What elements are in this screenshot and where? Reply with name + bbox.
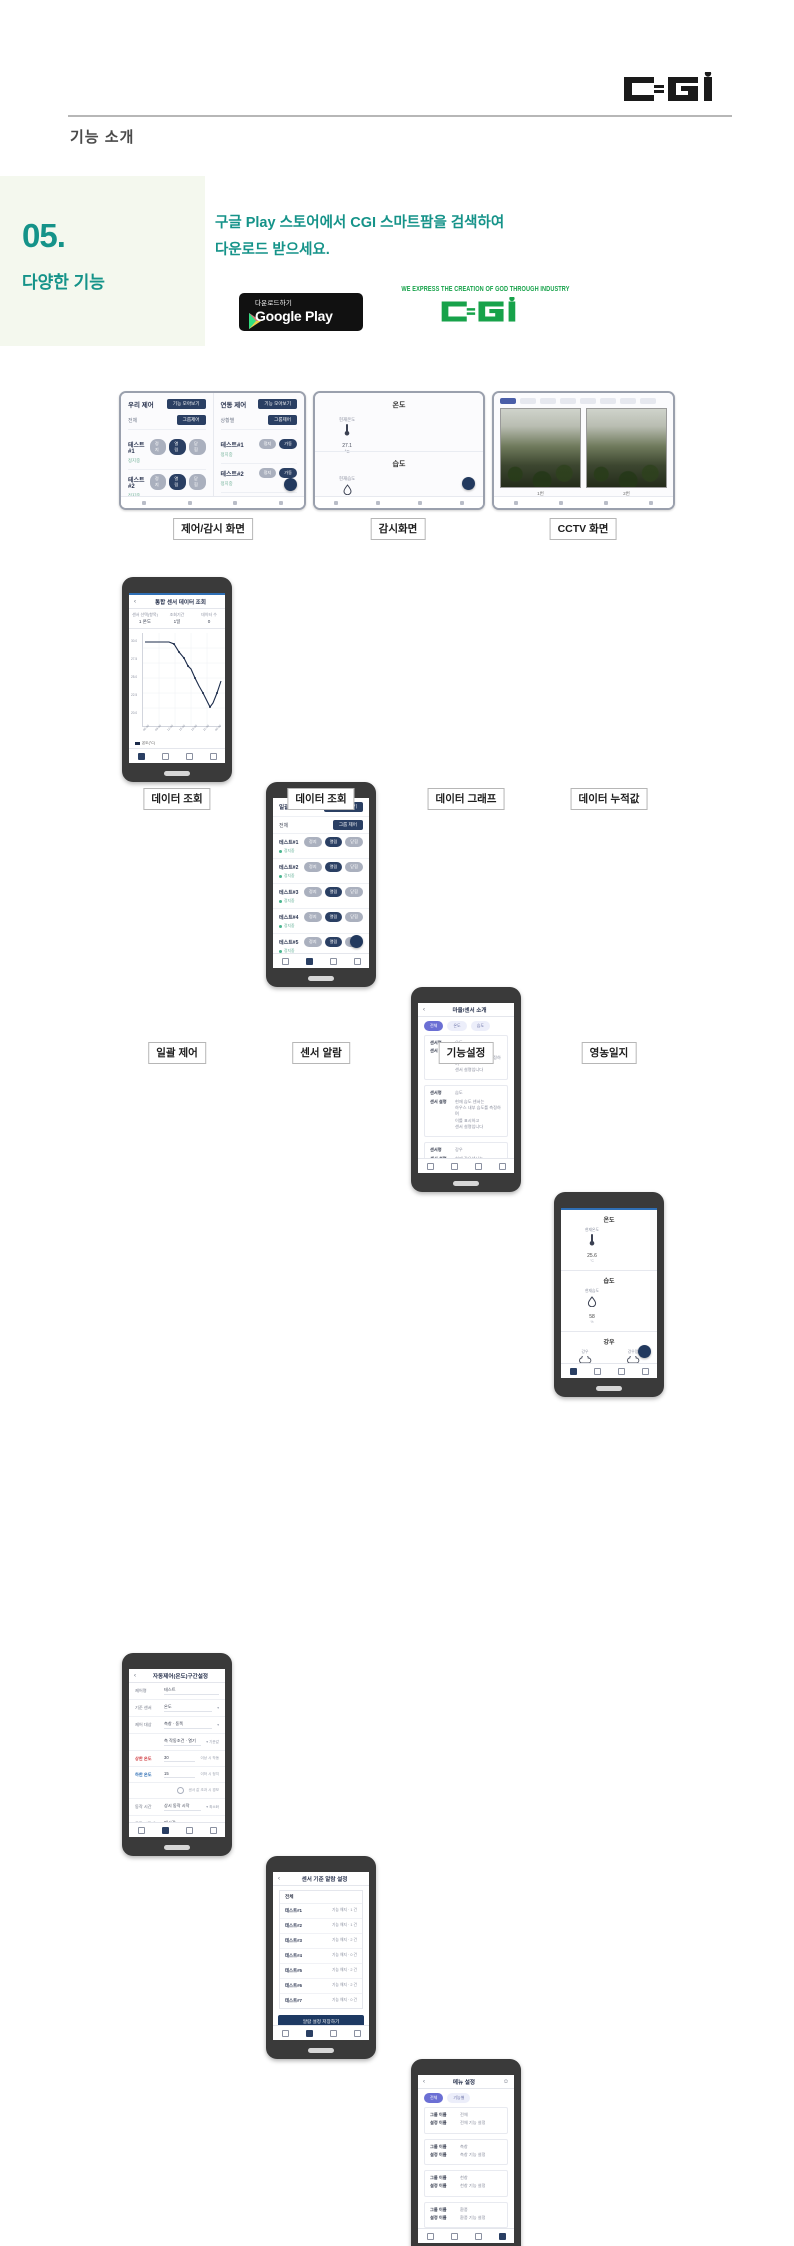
card-key: 센서 설명	[430, 1099, 451, 1130]
device-state-text: 정지중	[284, 849, 294, 854]
device-stop-button[interactable]: 정지	[150, 439, 167, 455]
alarm-row[interactable]: 테스트#6 기능 해지 · 2 건	[280, 1979, 362, 1994]
y-tick: 30.0	[131, 639, 137, 643]
card-key: 그룹 이름	[430, 2144, 456, 2150]
group-control-button[interactable]: 그룹 제어	[333, 820, 363, 830]
card-value: 천창 기능 설정	[460, 2183, 485, 2189]
device-state: 정지중	[279, 874, 363, 879]
nav-data-icon[interactable]	[330, 958, 337, 965]
lead-line-1: 구글 Play 스토어에서 CGI 스마트팜을 검색하여	[215, 210, 645, 237]
summary-key: 데이터 수	[193, 612, 225, 618]
caption-monitor: 감시화면	[371, 518, 426, 540]
x-axis-labels: 06:00 09:00 12:00 15:00 18:00 21:00 00:0…	[142, 729, 225, 733]
back-icon[interactable]: ‹	[134, 1673, 136, 1679]
cctv-tab-5[interactable]	[580, 398, 596, 404]
device-open-button[interactable]: 열림	[169, 439, 186, 455]
accum-humi-item: 현재습도 58 %	[575, 1289, 609, 1324]
form-label: 하한 온도	[135, 1772, 159, 1778]
bottom-nav[interactable]	[273, 953, 369, 968]
card-key: 그룹 이름	[430, 2207, 456, 2213]
bottom-nav[interactable]	[418, 2228, 514, 2243]
caption-batch-control: 일괄 제어	[148, 1042, 206, 1064]
cctv-video-2[interactable]	[586, 408, 667, 488]
alarm-value: 기능 해지 · 1 건	[332, 1908, 357, 1914]
device-state: 정지중	[279, 899, 363, 904]
control-right-button[interactable]: 기능 모아보기	[258, 399, 297, 409]
nav-home-icon[interactable]	[427, 1163, 434, 1170]
bottom-nav[interactable]	[129, 1822, 225, 1837]
device-state: 정지중	[279, 924, 363, 929]
alarm-value: 기능 해지 · 1 건	[332, 1923, 357, 1929]
form-unit: 이상 시 작동	[200, 1756, 219, 1761]
caption-data-query-chart: 데이터 조회	[143, 788, 210, 810]
tab-icon[interactable]	[142, 501, 146, 505]
nav-control-icon[interactable]	[594, 1368, 601, 1375]
summary-value: 1일	[161, 619, 193, 625]
nav-settings-icon[interactable]	[210, 753, 217, 760]
accum-humidity-section: 습도 현재습도 58 %	[561, 1271, 657, 1332]
bottom-nav[interactable]	[273, 2025, 369, 2040]
chip-all[interactable]: 전체	[424, 2093, 443, 2103]
filter-chips[interactable]: 전체 기능별	[418, 2089, 514, 2107]
tab-icon[interactable]	[604, 501, 608, 505]
summary-key: 조회기간	[161, 612, 193, 618]
device-name: 테스트#3	[279, 889, 298, 896]
control-right-group-button[interactable]: 그룹제어	[268, 415, 297, 425]
summary-key: 센서 선택(항목)	[129, 612, 161, 618]
form-value[interactable]: 테스트	[164, 1687, 219, 1695]
app-title: 메뉴 설정	[430, 2078, 498, 2086]
tab-icon[interactable]	[376, 501, 380, 505]
app-title: 자동제어(온도)구간설정	[141, 1672, 220, 1680]
nav-data-icon[interactable]	[186, 753, 193, 760]
form-label: 동작 시간	[135, 1804, 159, 1810]
card-key: 설정 이름	[430, 2152, 456, 2158]
form-label: 제어명	[135, 1688, 159, 1694]
checkbox-icon[interactable]	[177, 1787, 184, 1794]
device-run-button[interactable]: 가동	[279, 468, 297, 478]
device-close-button[interactable]: 닫힘	[345, 887, 363, 897]
tab-icon[interactable]	[514, 501, 518, 505]
device-name: 테스트#1	[221, 440, 244, 449]
app-bar: ‹ 메뉴 설정 ☺	[418, 2075, 514, 2089]
device-state: 정지중	[221, 452, 298, 458]
y-tick: 20.0	[131, 711, 137, 715]
person-icon[interactable]: ☺	[503, 2079, 509, 2085]
device-name: 테스트#2	[128, 475, 150, 490]
app-title: 통합 센서 데이터 조회	[141, 598, 220, 606]
device-open-button[interactable]: 열림	[325, 887, 343, 897]
form-label: 기준 센서	[135, 1705, 159, 1711]
bottom-nav[interactable]	[561, 1363, 657, 1378]
cctv-tab-4[interactable]	[560, 398, 576, 404]
nav-control-icon[interactable]	[451, 1163, 458, 1170]
device-open-button[interactable]: 열림	[325, 912, 343, 922]
accum-humi-unit: %	[575, 1320, 609, 1324]
card-value: 천창	[460, 2175, 468, 2181]
device-row[interactable]: 테스트#1 정지 열림 닫힘 정지중	[273, 834, 369, 859]
back-icon[interactable]: ‹	[423, 1007, 425, 1013]
device-close-button[interactable]: 닫힘	[189, 474, 206, 490]
nav-home-icon[interactable]	[138, 753, 145, 760]
form-label: 제어 대상	[135, 1722, 159, 1728]
tab-icon[interactable]	[279, 501, 283, 505]
alarm-value: 기능 해지 · 0 건	[332, 1998, 357, 2004]
back-icon[interactable]: ‹	[423, 2079, 425, 2085]
chevron-down-icon[interactable]: ▾	[217, 1706, 219, 1710]
control-right-group-label: 상황별	[221, 417, 235, 424]
card-key: 센서명	[430, 1090, 451, 1096]
nav-data-icon[interactable]	[475, 2233, 482, 2240]
google-play-badge[interactable]: 다운로드하기 Google Play	[239, 293, 363, 331]
alarm-name: 테스트#5	[285, 1968, 302, 1974]
screenshot-batch-control[interactable]: ‹ 자동제어(온도)구간설정 제어명 테스트 기준 센서 온도 ▾ 제어 대상 …	[122, 1653, 232, 1856]
form-row-checkbox[interactable]: 센서 값 초과 시 경보	[129, 1783, 225, 1799]
device-stop-button[interactable]: 정지	[150, 474, 167, 490]
legend-swatch	[135, 742, 140, 745]
chart-svg	[143, 633, 225, 726]
nav-control-icon[interactable]	[162, 1827, 169, 1834]
app-bar: ‹ 자동제어(온도)구간설정	[129, 1669, 225, 1683]
device-close-button[interactable]: 닫힘	[345, 912, 363, 922]
nav-data-icon[interactable]	[475, 1163, 482, 1170]
card-key: 센서명	[430, 1147, 451, 1153]
form-value[interactable]: 15	[164, 1771, 195, 1778]
nav-settings-icon[interactable]	[210, 1827, 217, 1834]
device-close-button[interactable]: 닫힘	[189, 439, 206, 455]
cctv-cell-2[interactable]: 2번	[586, 408, 667, 497]
tab-icon[interactable]	[233, 501, 237, 505]
form-row-lower-limit[interactable]: 하한 온도 15 이하 시 정지	[129, 1767, 225, 1783]
card-value: 환풍 기능 설정	[460, 2215, 485, 2221]
screenshot-data-query-list[interactable]: 일괄 제어 기능 모아보기 전체 그룹 제어 테스트#1 정지 열림 닫힘	[266, 782, 376, 987]
caption-data-accumulated: 데이터 누적값	[571, 788, 648, 810]
chevron-down-icon[interactable]: ▾	[217, 1723, 219, 1727]
floating-action-button[interactable]	[284, 478, 297, 491]
accum-temperature-section: 온도 현재온도 25.6 °C	[561, 1210, 657, 1271]
chip-humidity[interactable]: 습도	[471, 1021, 490, 1031]
device-name: 테스트#2	[221, 469, 244, 478]
section-band	[0, 176, 205, 346]
form-row[interactable]: 동작 시간 상시 동작 시작 ▾ 최소화	[129, 1799, 225, 1816]
form-row[interactable]: 제어명 테스트	[129, 1683, 225, 1700]
device-stop-button[interactable]: 정지	[304, 937, 322, 947]
thermometer-icon	[588, 1233, 596, 1250]
status-dot-icon	[279, 850, 282, 853]
card-key: 설정 이름	[430, 2183, 456, 2189]
card-value: 강우	[455, 1147, 463, 1153]
device-stop-button[interactable]: 정지	[304, 912, 322, 922]
cctv-video-1[interactable]	[500, 408, 581, 488]
nav-home-icon[interactable]	[282, 958, 289, 965]
device-open-button[interactable]: 열림	[325, 937, 343, 947]
header-divider	[68, 115, 732, 117]
tab-icon[interactable]	[649, 501, 653, 505]
device-name: 테스트#5	[279, 939, 298, 946]
screenshot-monitor[interactable]: 온도 현재온도 27.1 °C 습도 현재습도	[313, 391, 485, 510]
thermometer-icon	[343, 423, 351, 440]
cgi-tagline: WE EXPRESS THE CREATION OF GOD THROUGH I…	[398, 286, 573, 294]
caption-control-monitor: 제어/감시 화면	[173, 518, 253, 540]
device-name: 테스트#4	[279, 914, 298, 921]
alarm-name: 테스트#4	[285, 1953, 302, 1959]
tab-icon[interactable]	[334, 501, 338, 505]
form-row[interactable]: 제어 대상 측창 · 동쪽 ▾	[129, 1717, 225, 1734]
nav-settings-icon[interactable]	[499, 1163, 506, 1170]
app-title: 센서 기준 알람 설정	[285, 1875, 364, 1883]
form-unit: 이하 시 정지	[200, 1772, 219, 1777]
cgi-wordmark-icon	[398, 297, 573, 326]
control-left-title: 우리 제어	[128, 399, 154, 409]
page-root: 기능 소개 05. 다양한 기능 구글 Play 스토어에서 CGI 스마트팜을…	[0, 0, 794, 1123]
tab-icon[interactable]	[460, 501, 464, 505]
legend-label: 온도(°C)	[142, 741, 155, 746]
nav-home-icon[interactable]	[427, 2233, 434, 2240]
y-tick: 25.0	[131, 675, 137, 679]
setting-card[interactable]: 그룹 이름 측창 설정 이름 측창 기능 설정	[424, 2139, 508, 2166]
bottom-nav[interactable]	[129, 748, 225, 763]
chip-temperature[interactable]: 온도	[447, 1021, 466, 1031]
line-chart: 30.0 27.5 25.0 22.5 20.0	[142, 633, 221, 727]
section-label: 다양한 기능	[22, 268, 105, 293]
nav-data-icon[interactable]	[618, 1368, 625, 1375]
chart-legend: 온도(°C)	[135, 741, 225, 746]
sensor-card[interactable]: 센서명 습도 센서 설명 현재 습도 센서는 하우스 내부 습도를 측정하며 이…	[424, 1085, 508, 1137]
accum-humi-title: 습도	[561, 1276, 657, 1285]
bottom-nav[interactable]	[418, 1158, 514, 1173]
device-open-button[interactable]: 열림	[325, 862, 343, 872]
cctv-tab-8[interactable]	[640, 398, 656, 404]
monitor-humi-title: 습도	[315, 452, 483, 469]
summary-value: 0	[193, 619, 225, 624]
nav-home-icon[interactable]	[282, 2030, 289, 2037]
device-state: 정지중	[279, 849, 363, 854]
alarm-name: 테스트#2	[285, 1923, 302, 1929]
group-row[interactable]: 전체 그룹 제어	[273, 816, 369, 834]
nav-home-icon[interactable]	[138, 1827, 145, 1834]
control-column-right: 연동 제어 기능 모아보기 상황별 그룹제어 테스트#1 정지 가동 정	[213, 393, 305, 508]
lead-text: 구글 Play 스토어에서 CGI 스마트팜을 검색하여 다운로드 받으세요.	[215, 210, 645, 264]
device-stop-button[interactable]: 정지	[304, 887, 322, 897]
app-bar: ‹ 통합 센서 데이터 조회	[129, 593, 225, 609]
form-row-upper-limit[interactable]: 상한 온도 30 이상 시 작동	[129, 1751, 225, 1767]
card-value: 측창 기능 설정	[460, 2152, 485, 2158]
device-row[interactable]: 테스트#1 정지 열림 닫힘 정지중	[128, 435, 206, 470]
alarm-list: 전체 테스트#1 기능 해지 · 1 건 테스트#2 기능 해지 · 1 건 테…	[279, 1890, 363, 2009]
screenshot-sensor-alarm[interactable]: ‹ 센서 기준 알람 설정 전체 테스트#1 기능 해지 · 1 건 테스트#2…	[266, 1856, 376, 2059]
alarm-name: 테스트#7	[285, 1998, 302, 2004]
control-left-group-label: 전체	[128, 417, 137, 424]
caption-function-settings: 기능설정	[439, 1042, 494, 1064]
app-bar: ‹ 센서 기준 알람 설정	[273, 1872, 369, 1886]
alarm-value: 기능 해지 · 2 건	[332, 1968, 357, 1974]
alarm-value: 기능 해지 · 2 건	[332, 1983, 357, 1989]
accum-temp-unit: °C	[575, 1259, 609, 1263]
device-stop-button[interactable]: 정지	[304, 837, 322, 847]
play-badge-subtitle: 다운로드하기	[255, 301, 333, 308]
form-unit: ▾ 기준값	[206, 1740, 219, 1745]
alarm-name: 테스트#1	[285, 1908, 302, 1914]
nav-settings-icon[interactable]	[354, 958, 361, 965]
status-dot-icon	[279, 875, 282, 878]
screenshot-cctv[interactable]: 1번 2번	[492, 391, 675, 510]
y-tick: 22.5	[131, 693, 137, 697]
form-row[interactable]: 기준 센서 온도 ▾	[129, 1700, 225, 1717]
nav-settings-icon[interactable]	[354, 2030, 361, 2037]
device-row[interactable]: 테스트#4 정지 열림 닫힘 정지중	[273, 909, 369, 934]
tab-icon[interactable]	[418, 501, 422, 505]
alarm-row[interactable]: 테스트#5 기능 해지 · 2 건	[280, 1964, 362, 1979]
status-dot-icon	[279, 900, 282, 903]
screenshot-control-monitor[interactable]: 우리 제어 기능 모아보기 전체 그룹제어 테스트#1 정지 열림 닫힘	[119, 391, 306, 510]
app-title: 마을/센서 소개	[430, 1006, 509, 1014]
card-key: 그룹 이름	[430, 2112, 456, 2118]
device-row[interactable]: 테스트#3 정지 열림 닫힘 정지중	[273, 884, 369, 909]
back-icon[interactable]: ‹	[134, 599, 136, 605]
screenshot-data-query-chart[interactable]: ‹ 통합 센서 데이터 조회 센서 선택(항목) 1 온도 조회기간 1일 데이…	[122, 577, 232, 782]
nav-control-icon[interactable]	[451, 2233, 458, 2240]
screenshot-data-graph[interactable]: ‹ 마을/센서 소개 전체 온도 습도 센서명 온도 센서 설명 현재 온도센서…	[411, 987, 521, 1192]
tablet-tab-bar[interactable]	[494, 496, 673, 508]
cgi-green-logo: WE EXPRESS THE CREATION OF GOD THROUGH I…	[398, 286, 573, 326]
section-number: 05.	[22, 217, 65, 255]
tablet-tab-bar[interactable]	[121, 496, 304, 508]
alarm-row[interactable]: 테스트#1 기능 해지 · 1 건	[280, 1904, 362, 1919]
cctv-tab-7[interactable]	[620, 398, 636, 404]
alarm-row[interactable]: 테스트#3 기능 해지 · 2 건	[280, 1934, 362, 1949]
control-left-footnote: 전체 소 센서 정보	[128, 509, 206, 510]
device-close-button[interactable]: 닫힘	[345, 862, 363, 872]
alarm-name: 테스트#6	[285, 1983, 302, 1989]
tab-icon[interactable]	[559, 501, 563, 505]
form-value[interactable]: 상시 동작 시작	[164, 1803, 201, 1811]
device-open-button[interactable]: 열림	[325, 837, 343, 847]
back-icon[interactable]: ‹	[278, 1876, 280, 1882]
device-row[interactable]: 테스트#2 정지 열림 닫힘 정지중	[273, 859, 369, 884]
card-value: 현재 습도 센서는 하우스 내부 습도를 측정하며 이를 표시하고 센서 설명입…	[455, 1099, 502, 1130]
control-right-title: 연동 제어	[221, 399, 247, 409]
cgi-logo-icon	[622, 72, 732, 106]
tab-icon[interactable]	[188, 501, 192, 505]
monitor-temperature-panel: 온도 현재온도 27.1 °C	[315, 393, 483, 451]
device-name: 테스트#1	[279, 839, 298, 846]
control-left-group-button[interactable]: 그룹제어	[177, 415, 206, 425]
form-value[interactable]: 측 작동조건 · 열기	[164, 1738, 201, 1746]
device-stop-button[interactable]: 정지	[259, 439, 277, 449]
screenshot-function-settings[interactable]: ‹ 메뉴 설정 ☺ 전체 기능별 그룹 이름 전체 설정 이름 전체 기능 설정…	[411, 2059, 521, 2246]
control-left-button[interactable]: 기능 모아보기	[167, 399, 206, 409]
device-close-button[interactable]: 닫힘	[345, 837, 363, 847]
setting-card[interactable]: 그룹 이름 전체 설정 이름 전체 기능 설정	[424, 2107, 508, 2134]
device-name: 테스트#2	[279, 864, 298, 871]
caption-farming-journal: 영농일지	[582, 1042, 637, 1064]
nav-control-icon[interactable]	[162, 753, 169, 760]
nav-control-icon[interactable]	[306, 958, 313, 965]
accum-temp-item: 현재온도 25.6 °C	[575, 1228, 609, 1263]
device-stop-button[interactable]: 정지	[259, 468, 277, 478]
control-column-left: 우리 제어 기능 모아보기 전체 그룹제어 테스트#1 정지 열림 닫힘	[121, 393, 213, 508]
floating-action-button[interactable]	[462, 477, 475, 490]
alarm-row[interactable]: 테스트#7 기능 해지 · 0 건	[280, 1994, 362, 2008]
app-bar: ‹ 마을/센서 소개	[418, 1003, 514, 1017]
card-key: 설정 이름	[430, 2120, 456, 2126]
filter-chips[interactable]: 전체 온도 습도	[418, 1017, 514, 1035]
card-value: 환풍	[460, 2207, 468, 2213]
form-value[interactable]: 30	[164, 1755, 195, 1762]
accum-temp-title: 온도	[561, 1215, 657, 1224]
summary-value: 1 온도	[129, 619, 161, 625]
humi-gauge-label: 현재습도	[339, 476, 355, 482]
setting-card[interactable]: 그룹 이름 환풍 설정 이름 환풍 기능 설정	[424, 2202, 508, 2229]
checkbox-label: 센서 값 초과 시 경보	[189, 1788, 219, 1793]
device-state-text: 정지중	[284, 924, 294, 929]
status-dot-icon	[279, 925, 282, 928]
alarm-value: 기능 해지 · 2 건	[332, 1938, 357, 1944]
card-value: 전체 기능 설정	[460, 2120, 485, 2126]
tablet-tab-bar[interactable]	[315, 496, 483, 508]
droplet-icon	[587, 1294, 597, 1311]
floating-action-button[interactable]	[638, 1345, 651, 1358]
screenshot-data-accumulated[interactable]: 온도 현재온도 25.6 °C 습도 현재습도	[554, 1192, 664, 1397]
device-stop-button[interactable]: 정지	[304, 862, 322, 872]
play-badge-title: Google Play	[255, 309, 333, 323]
card-value: 습도	[455, 1090, 463, 1096]
device-name: 테스트#1	[128, 440, 150, 455]
cctv-tab-2[interactable]	[520, 398, 536, 404]
chart-summary-cell: 조회기간 1일	[161, 609, 193, 628]
y-tick: 27.5	[131, 657, 137, 661]
form-label: 상한 온도	[135, 1756, 159, 1762]
cctv-tab-list[interactable]	[494, 393, 673, 408]
chart-summary-cell: 데이터 수 0	[193, 609, 225, 628]
cctv-tab-1[interactable]	[500, 398, 516, 404]
form-row[interactable]: 측 작동조건 · 열기 ▾ 기준값	[129, 1734, 225, 1751]
setting-card[interactable]: 그룹 이름 천창 설정 이름 천창 기능 설정	[424, 2170, 508, 2197]
chart-summary-row: 센서 선택(항목) 1 온도 조회기간 1일 데이터 수 0	[129, 609, 225, 629]
floating-action-button[interactable]	[350, 935, 363, 948]
chart-summary-cell: 센서 선택(항목) 1 온도	[129, 609, 161, 628]
chip-by-function[interactable]: 기능별	[447, 2093, 470, 2103]
chip-all[interactable]: 전체	[424, 1021, 443, 1031]
cctv-tab-6[interactable]	[600, 398, 616, 404]
caption-sensor-alarm: 센서 알람	[292, 1042, 350, 1064]
form-value[interactable]: 측창 · 동쪽	[164, 1721, 212, 1729]
nav-data-icon[interactable]	[186, 1827, 193, 1834]
form-value[interactable]: 온도	[164, 1704, 212, 1712]
alarm-row[interactable]: 테스트#2 기능 해지 · 1 건	[280, 1919, 362, 1934]
form-unit: ▾ 최소화	[206, 1805, 219, 1810]
nav-data-icon[interactable]	[330, 2030, 337, 2037]
alarm-value: 기능 해지 · 0 건	[332, 1953, 357, 1959]
nav-settings-icon[interactable]	[642, 1368, 649, 1375]
cctv-grid: 1번 2번	[494, 408, 673, 497]
cctv-tab-3[interactable]	[540, 398, 556, 404]
cctv-cell-1[interactable]: 1번	[500, 408, 581, 497]
device-run-button[interactable]: 가동	[279, 439, 297, 449]
caption-data-query-list: 데이터 조회	[287, 788, 354, 810]
nav-settings-icon[interactable]	[499, 2233, 506, 2240]
device-state: 정지중	[128, 458, 206, 464]
device-open-button[interactable]: 열림	[169, 474, 186, 490]
device-row[interactable]: 테스트#1 정지 가동 정지중	[221, 435, 298, 464]
card-key: 그룹 이름	[430, 2175, 456, 2181]
temperature-gauge: 현재온도 27.1 °C	[339, 417, 355, 454]
nav-control-icon[interactable]	[306, 2030, 313, 2037]
nav-home-icon[interactable]	[570, 1368, 577, 1375]
alarm-group-header: 전체	[280, 1891, 362, 1904]
alarm-row[interactable]: 테스트#4 기능 해지 · 0 건	[280, 1949, 362, 1964]
card-key: 설정 이름	[430, 2215, 456, 2221]
